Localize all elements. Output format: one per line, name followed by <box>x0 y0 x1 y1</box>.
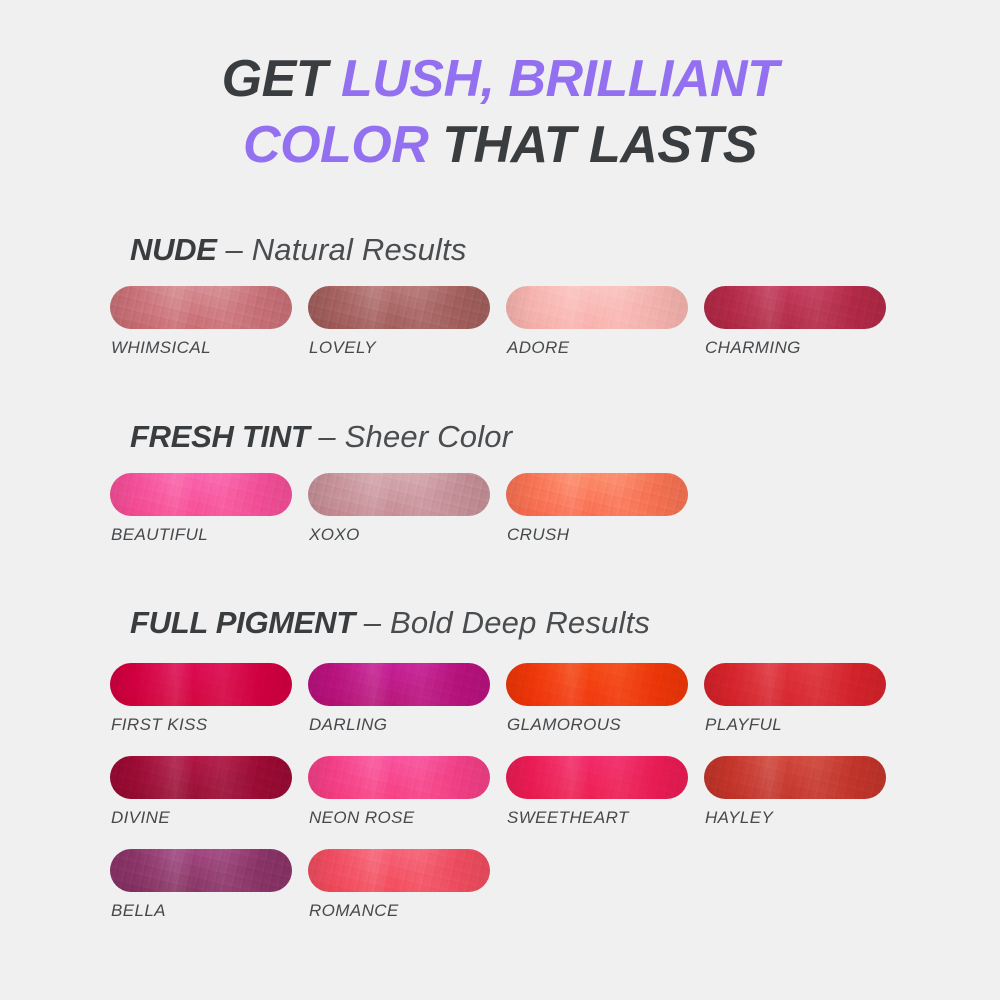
swatch-color-crush[interactable] <box>506 473 688 516</box>
section-name-full-pigment: FULL PIGMENT <box>130 605 355 640</box>
swatch-row: FIRST KISS DARLING GLAMOROUS PLAYFUL <box>110 663 902 756</box>
section-heading-full-pigment: FULL PIGMENT – Bold Deep Results <box>130 607 650 638</box>
section-heading-nude: NUDE – Natural Results <box>130 234 467 265</box>
swatch-color-beautiful[interactable] <box>110 473 292 516</box>
swatch-color-bella[interactable] <box>110 849 292 892</box>
swatch-item-charming[interactable]: CHARMING <box>704 286 902 379</box>
swatch-label-playful: PLAYFUL <box>705 715 782 735</box>
swatch-item-glamorous[interactable]: GLAMOROUS <box>506 663 704 756</box>
swatch-item-darling[interactable]: DARLING <box>308 663 506 756</box>
swatch-row: DIVINE NEON ROSE SWEETHEART HAYLEY <box>110 756 902 849</box>
swatch-color-hayley[interactable] <box>704 756 886 799</box>
swatch-item-divine[interactable]: DIVINE <box>110 756 308 849</box>
section-tagline-nude: Natural Results <box>252 232 467 267</box>
swatch-grid-full-pigment: FIRST KISS DARLING GLAMOROUS PLAYFUL <box>110 663 902 942</box>
swatch-color-glamorous[interactable] <box>506 663 688 706</box>
swatch-item-sweetheart[interactable]: SWEETHEART <box>506 756 704 849</box>
swatch-label-glamorous: GLAMOROUS <box>507 715 621 735</box>
section-separator-fresh-tint: – <box>310 419 345 454</box>
swatch-label-romance: ROMANCE <box>309 901 399 921</box>
swatch-label-adore: ADORE <box>507 338 569 358</box>
section-tagline-fresh-tint: Sheer Color <box>345 419 513 454</box>
swatch-label-darling: DARLING <box>309 715 387 735</box>
swatch-label-lovely: LOVELY <box>309 338 376 358</box>
swatch-label-first-kiss: FIRST KISS <box>111 715 208 735</box>
swatch-color-darling[interactable] <box>308 663 490 706</box>
swatch-item-beautiful[interactable]: BEAUTIFUL <box>110 473 308 566</box>
swatch-item-bella[interactable]: BELLA <box>110 849 308 942</box>
swatch-color-first-kiss[interactable] <box>110 663 292 706</box>
swatch-item-adore[interactable]: ADORE <box>506 286 704 379</box>
page-title-segment-lush-brilliant: LUSH, BRILLIANT <box>341 50 778 108</box>
page-title-segment-that-lasts: THAT LASTS <box>428 116 757 174</box>
swatch-item-xoxo[interactable]: XOXO <box>308 473 506 566</box>
swatch-item-whimsical[interactable]: WHIMSICAL <box>110 286 308 379</box>
swatch-color-neon-rose[interactable] <box>308 756 490 799</box>
swatch-row: WHIMSICAL LOVELY ADORE CHARMING <box>110 286 902 379</box>
swatch-item-neon-rose[interactable]: NEON ROSE <box>308 756 506 849</box>
swatch-item-lovely[interactable]: LOVELY <box>308 286 506 379</box>
swatch-grid-fresh-tint: BEAUTIFUL XOXO CRUSH <box>110 473 704 566</box>
page-title-line-2: COLOR THAT LASTS <box>0 112 1000 178</box>
section-name-nude: NUDE <box>130 232 217 267</box>
swatch-row: BEAUTIFUL XOXO CRUSH <box>110 473 704 566</box>
swatch-label-beautiful: BEAUTIFUL <box>111 525 208 545</box>
swatch-label-hayley: HAYLEY <box>705 808 773 828</box>
page-title: GET LUSH, BRILLIANT COLOR THAT LASTS <box>0 46 1000 178</box>
swatch-color-adore[interactable] <box>506 286 688 329</box>
section-heading-fresh-tint: FRESH TINT – Sheer Color <box>130 421 512 452</box>
page-title-segment-color: COLOR <box>243 116 428 174</box>
swatch-item-hayley[interactable]: HAYLEY <box>704 756 902 849</box>
swatch-item-crush[interactable]: CRUSH <box>506 473 704 566</box>
page-title-line-1: GET LUSH, BRILLIANT <box>0 46 1000 112</box>
swatch-color-xoxo[interactable] <box>308 473 490 516</box>
swatch-label-divine: DIVINE <box>111 808 170 828</box>
swatch-item-playful[interactable]: PLAYFUL <box>704 663 902 756</box>
swatch-label-crush: CRUSH <box>507 525 569 545</box>
swatch-label-whimsical: WHIMSICAL <box>111 338 211 358</box>
swatch-color-whimsical[interactable] <box>110 286 292 329</box>
swatch-grid-nude: WHIMSICAL LOVELY ADORE CHARMING <box>110 286 902 379</box>
swatch-label-charming: CHARMING <box>705 338 801 358</box>
section-separator-nude: – <box>217 232 252 267</box>
swatch-item-romance[interactable]: ROMANCE <box>308 849 506 942</box>
swatch-label-neon-rose: NEON ROSE <box>309 808 415 828</box>
page-title-segment-get: GET <box>222 50 341 108</box>
promo-page: GET LUSH, BRILLIANT COLOR THAT LASTS NUD… <box>0 0 1000 1000</box>
section-separator-full-pigment: – <box>355 605 390 640</box>
swatch-color-romance[interactable] <box>308 849 490 892</box>
swatch-label-sweetheart: SWEETHEART <box>507 808 629 828</box>
swatch-color-divine[interactable] <box>110 756 292 799</box>
swatch-color-charming[interactable] <box>704 286 886 329</box>
swatch-color-playful[interactable] <box>704 663 886 706</box>
swatch-item-first-kiss[interactable]: FIRST KISS <box>110 663 308 756</box>
swatch-label-xoxo: XOXO <box>309 525 360 545</box>
swatch-label-bella: BELLA <box>111 901 166 921</box>
section-name-fresh-tint: FRESH TINT <box>130 419 310 454</box>
swatch-row: BELLA ROMANCE <box>110 849 902 942</box>
section-tagline-full-pigment: Bold Deep Results <box>390 605 650 640</box>
swatch-color-sweetheart[interactable] <box>506 756 688 799</box>
swatch-color-lovely[interactable] <box>308 286 490 329</box>
